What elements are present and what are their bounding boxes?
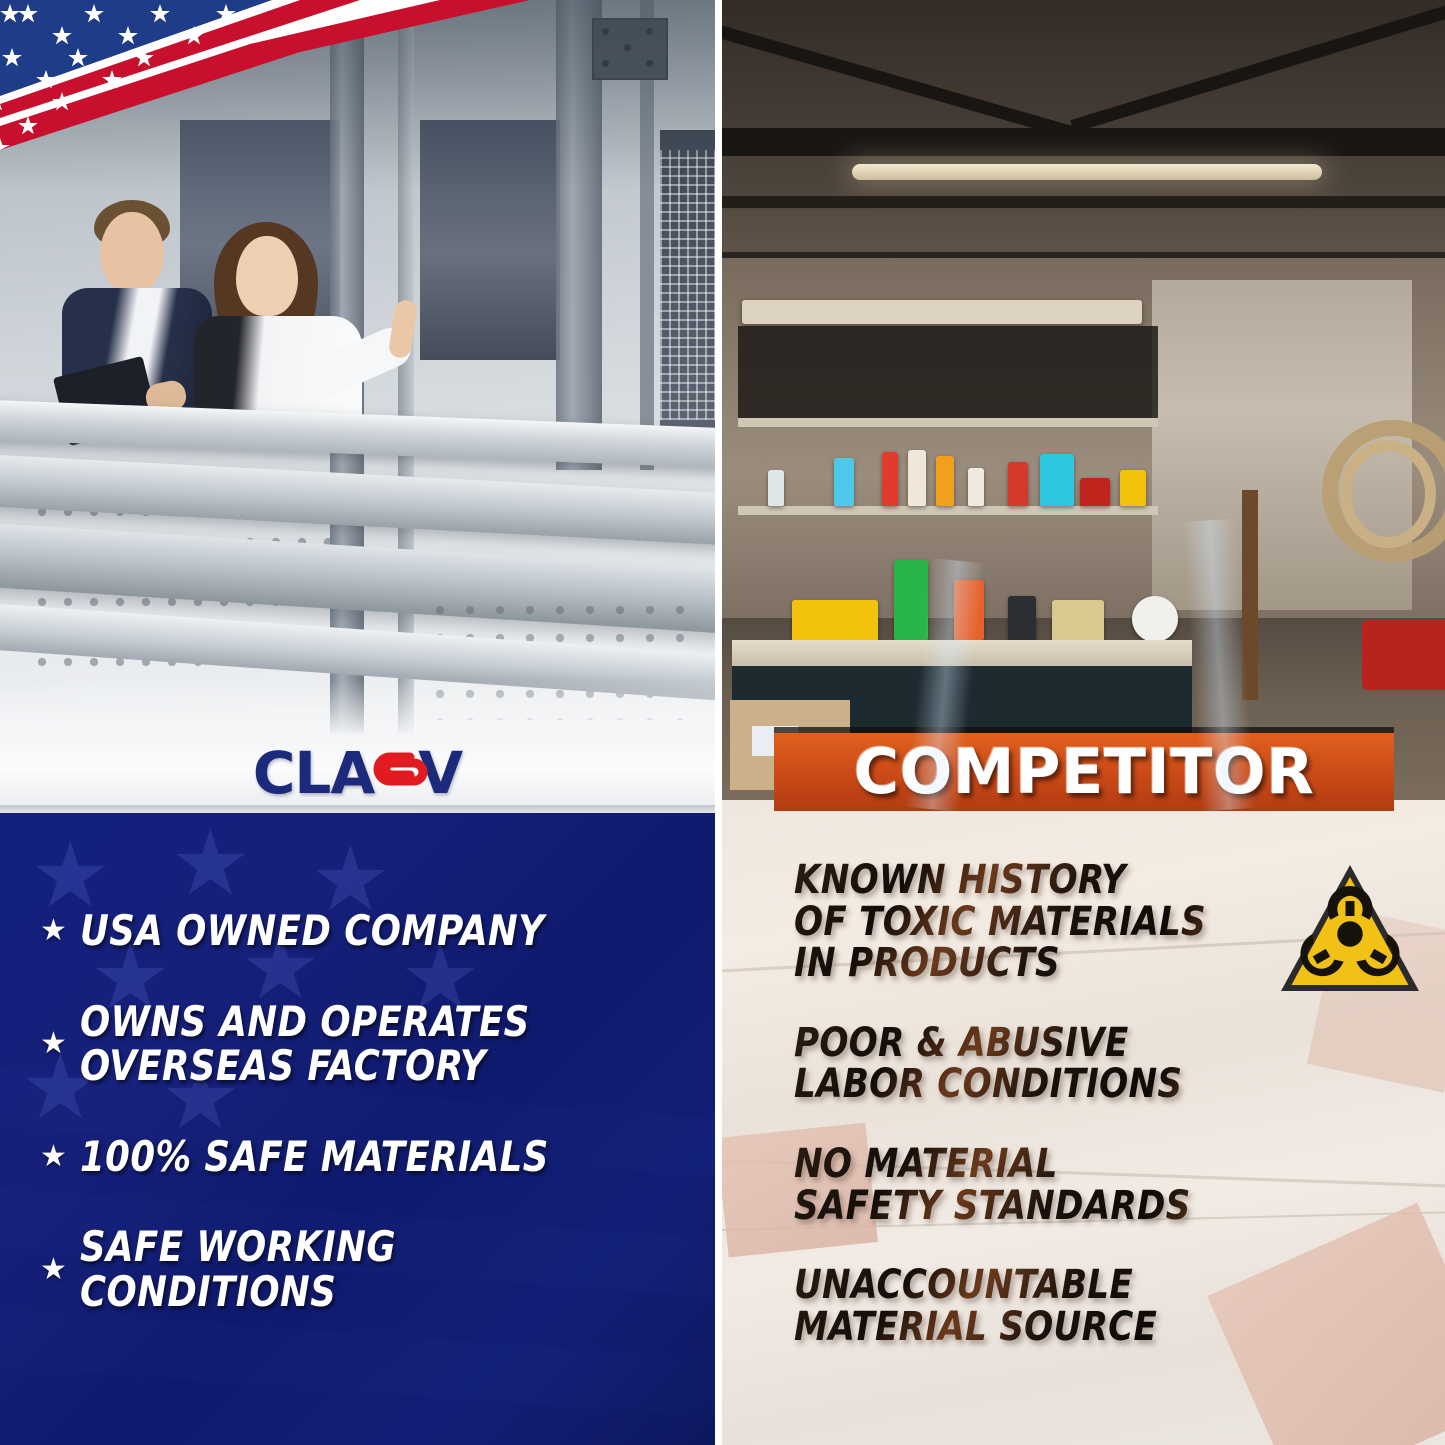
star-bullet-icon: ★ bbox=[40, 916, 80, 946]
benefit-label: OWNS AND OPERATES OVERSEAS FACTORY bbox=[80, 1000, 530, 1089]
benefit-label: 100% SAFE MATERIALS bbox=[80, 1135, 549, 1180]
mesh-panel bbox=[660, 150, 715, 420]
issue-label: UNACCOUNTABLE MATERIAL SOURCE bbox=[794, 1265, 1403, 1348]
claev-logo: CLA V bbox=[253, 744, 462, 802]
star-bullet-icon: ★ bbox=[40, 1142, 80, 1172]
list-item: ★ USA OWNED COMPANY bbox=[40, 909, 689, 954]
shelf-unit bbox=[738, 326, 1158, 422]
list-item: ★ 100% SAFE MATERIALS bbox=[40, 1135, 689, 1180]
benefit-label: USA OWNED COMPANY bbox=[80, 909, 544, 954]
ceiling-truss bbox=[722, 196, 1445, 208]
list-item: POOR & ABUSIVE LABOR CONDITIONS bbox=[794, 1023, 1435, 1106]
issue-label: POOR & ABUSIVE LABOR CONDITIONS bbox=[794, 1023, 1403, 1106]
star-bullet-icon: ★ bbox=[40, 1255, 80, 1285]
list-item: NO MATERIAL SAFETY STANDARDS bbox=[794, 1144, 1435, 1227]
right-panel-competitor: COMPETITOR bbox=[722, 0, 1445, 1445]
claev-logo-text-1: CLA bbox=[253, 744, 374, 802]
business-professionals bbox=[70, 196, 360, 436]
competitor-workshop-photo bbox=[722, 0, 1445, 800]
claev-e-mark-icon bbox=[366, 747, 428, 799]
competitor-issues-panel: KNOWN HISTORY OF TOXIC MATERIALS IN PROD… bbox=[722, 800, 1445, 1445]
claev-brand-bar: CLA V bbox=[0, 733, 715, 813]
ceiling-light bbox=[852, 164, 1322, 180]
claev-factory-photo bbox=[0, 0, 715, 800]
list-item: UNACCOUNTABLE MATERIAL SOURCE bbox=[794, 1265, 1435, 1348]
benefit-label: SAFE WORKING CONDITIONS bbox=[80, 1225, 396, 1314]
ceiling-truss bbox=[722, 128, 1445, 156]
list-item: ★ SAFE WORKING CONDITIONS bbox=[40, 1225, 689, 1314]
comparison-poster: CLA V ★ ★ ★ ★ ★ ★ ★ ★ bbox=[0, 0, 1445, 1445]
overhead-board bbox=[742, 300, 1142, 324]
star-bullet-icon: ★ bbox=[40, 1029, 80, 1059]
left-panel-claev: CLA V ★ ★ ★ ★ ★ ★ ★ ★ bbox=[0, 0, 715, 1445]
red-toolbox bbox=[1362, 620, 1445, 690]
claev-benefits-panel: ★ ★ ★ ★ ★ ★ ★ ★ ★ USA OWNED COMPANY ★ bbox=[0, 813, 715, 1445]
photo-top-shading bbox=[0, 0, 715, 190]
list-item: ★ OWNS AND OPERATES OVERSEAS FACTORY bbox=[40, 1000, 689, 1089]
biohazard-warning-icon bbox=[1275, 856, 1425, 1006]
competitor-heading-bar: COMPETITOR bbox=[774, 733, 1394, 811]
issue-label: NO MATERIAL SAFETY STANDARDS bbox=[794, 1144, 1403, 1227]
panel-divider bbox=[715, 0, 722, 1445]
benefits-list: ★ USA OWNED COMPANY ★ OWNS AND OPERATES … bbox=[40, 909, 689, 1360]
coiled-rope bbox=[1340, 440, 1436, 548]
